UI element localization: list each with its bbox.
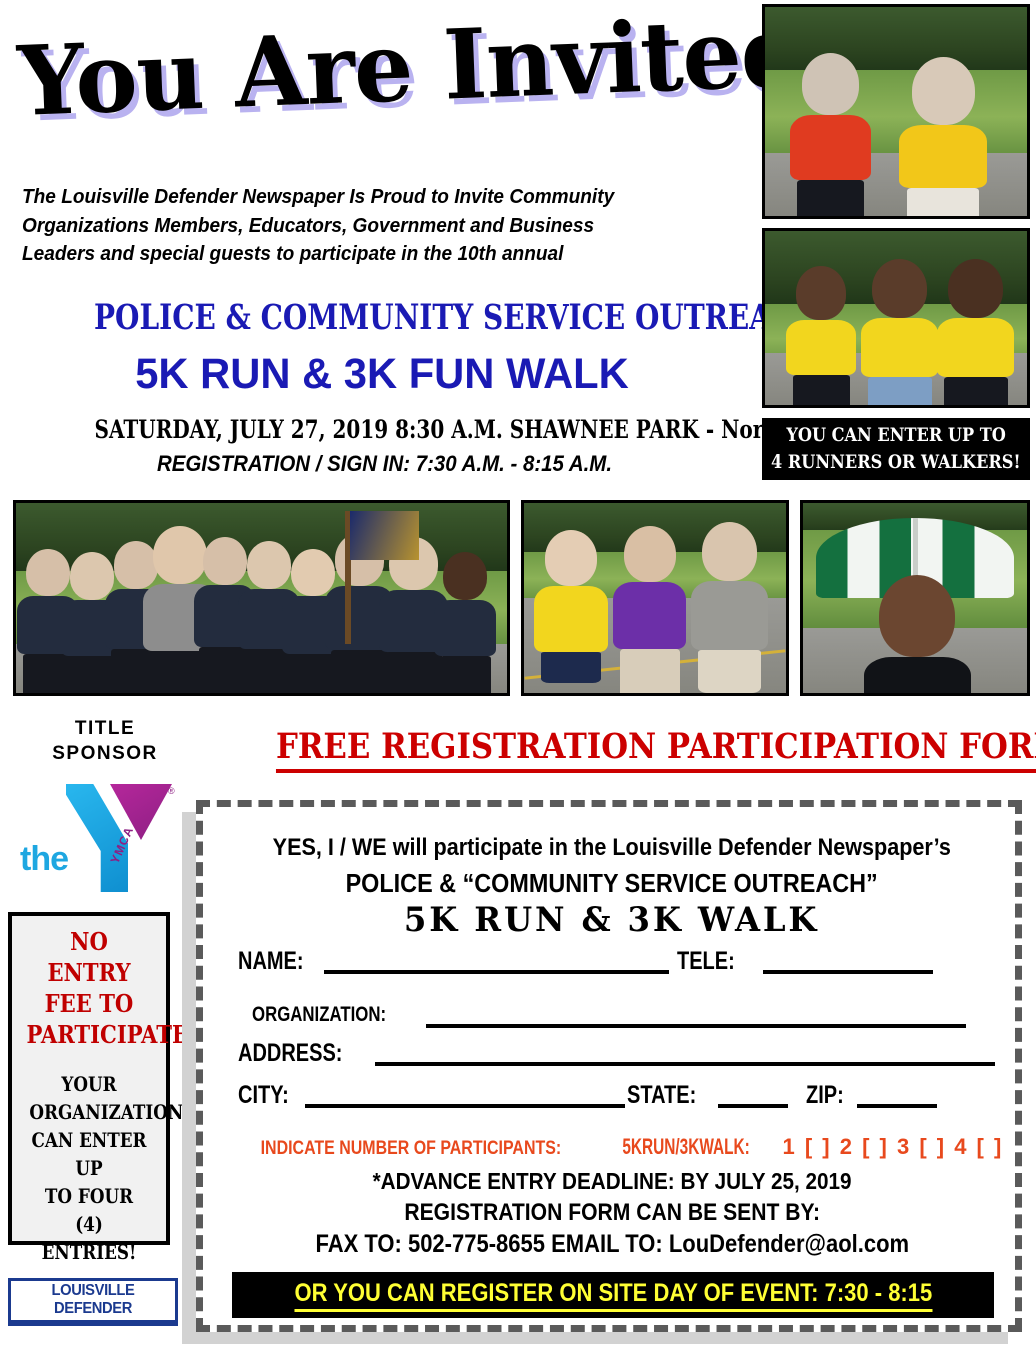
participants-line: INDICATE NUMBER OF PARTICIPANTS: 5KRUN/3… xyxy=(232,1134,992,1160)
no-fee-body-2: ORGANIZATION xyxy=(29,1098,148,1126)
participants-count-checkboxes[interactable]: 1 [ ] 2 [ ] 3 [ ] 4 [ ] xyxy=(783,1134,1004,1160)
publisher-name-text: LOUISVILLE DEFENDER xyxy=(18,1282,169,1318)
publisher-tagline-bar: WEEKLY NEWSPAPER xyxy=(11,1320,175,1340)
deadline-text: *ADVANCE ENTRY DEADLINE: BY JULY 25, 201… xyxy=(373,1168,852,1195)
deadline-line: *ADVANCE ENTRY DEADLINE: BY JULY 25, 201… xyxy=(232,1168,992,1195)
no-fee-body-1: YOUR xyxy=(29,1070,148,1098)
name-input[interactable] xyxy=(324,970,669,974)
organization-input[interactable] xyxy=(426,1024,966,1028)
page-title: You Are Invited! xyxy=(18,22,718,157)
address-field-label: ADDRESS: xyxy=(238,1040,342,1066)
woman-with-umbrella-photo xyxy=(800,500,1030,696)
intro-paragraph: The Louisville Defender Newspaper Is Pro… xyxy=(22,183,722,269)
event-subtitle-heading: 5K RUN & 3K FUN WALK xyxy=(22,348,742,400)
title-sponsor-line-2: SPONSOR xyxy=(30,741,180,766)
no-fee-heading-3: PARTICIPATE! xyxy=(27,1019,152,1050)
registered-trademark-icon: ® xyxy=(168,786,175,796)
form-police-text: POLICE & “COMMUNITY SERVICE OUTREACH” xyxy=(346,868,878,899)
no-fee-body-4: TO FOUR (4) xyxy=(29,1182,148,1238)
event-name-text: POLICE & COMMUNITY SERVICE OUTREACH xyxy=(94,298,670,338)
contact-line: FAX TO: 502-775-8655 EMAIL TO: LouDefend… xyxy=(232,1230,992,1259)
title-sponsor-line-1: TITLE xyxy=(30,716,180,741)
organization-field-row: ORGANIZATION: xyxy=(252,1002,966,1028)
onsite-registration-bar: OR YOU CAN REGISTER ON SITE DAY OF EVENT… xyxy=(232,1272,994,1318)
city-state-zip-field-row: CITY: STATE: ZIP: xyxy=(238,1082,937,1108)
tele-input[interactable] xyxy=(763,970,933,974)
sent-by-text: REGISTRATION FORM CAN BE SENT BY: xyxy=(404,1199,820,1227)
event-name-heading: POLICE & COMMUNITY SERVICE OUTREACH xyxy=(22,298,742,338)
form-run-walk-line: 5K RUN & 3K WALK xyxy=(232,900,992,940)
event-subtitle-text: 5K RUN & 3K FUN WALK xyxy=(33,348,731,400)
two-women-walking-photo xyxy=(762,4,1030,219)
onsite-registration-text: OR YOU CAN REGISTER ON SITE DAY OF EVENT… xyxy=(294,1279,932,1312)
intro-line-1: The Louisville Defender Newspaper Is Pro… xyxy=(22,183,673,212)
city-input[interactable] xyxy=(305,1104,625,1108)
enter-limit-callout: YOU CAN ENTER UP TO 4 RUNNERS OR WALKERS… xyxy=(762,418,1030,480)
address-input[interactable] xyxy=(375,1062,995,1066)
form-title-text: FREE REGISTRATION PARTICIPATION FORM xyxy=(276,726,1036,773)
no-entry-fee-box: NO ENTRY FEE TO PARTICIPATE! YOUR ORGANI… xyxy=(8,912,170,1245)
no-fee-body-5: ENTRIES! xyxy=(29,1238,148,1266)
ymca-logo: the ® YMCA xyxy=(18,778,193,896)
city-field-label: CITY: xyxy=(238,1082,289,1108)
three-walkers-photo xyxy=(521,500,789,696)
ymca-the-text: the xyxy=(20,840,68,879)
name-field-row: NAME: TELE: xyxy=(238,948,933,974)
form-title: FREE REGISTRATION PARTICIPATION FORM xyxy=(222,726,982,773)
zip-field-label: ZIP: xyxy=(806,1082,844,1108)
participants-event-label: 5KRUN/3KWALK: xyxy=(622,1134,749,1160)
form-yes-text: YES, I / WE will participate in the Loui… xyxy=(273,834,951,862)
event-registration-text: REGISTRATION / SIGN IN: 7:30 A.M. - 8:15… xyxy=(47,450,721,477)
publisher-tagline-text: WEEKLY NEWSPAPER xyxy=(20,1324,167,1338)
no-fee-body-3: CAN ENTER UP xyxy=(29,1126,148,1182)
page-title-text: You Are Invited! xyxy=(16,0,699,142)
intro-line-2: Organizations Members, Educators, Govern… xyxy=(22,212,673,241)
event-date-text: SATURDAY, JULY 27, 2019 8:30 A.M. SHAWNE… xyxy=(95,415,675,445)
three-walkers-yellow-shirts-photo xyxy=(762,228,1030,408)
publisher-name-bar: LOUISVILLE DEFENDER xyxy=(11,1281,175,1320)
no-fee-heading-1: NO ENTRY xyxy=(27,926,152,988)
zip-input[interactable] xyxy=(857,1104,937,1108)
louisville-defender-logo: LOUISVILLE DEFENDER WEEKLY NEWSPAPER xyxy=(8,1278,178,1326)
state-input[interactable] xyxy=(718,1104,788,1108)
title-sponsor-label: TITLE SPONSOR xyxy=(30,716,180,766)
no-fee-heading-2: FEE TO xyxy=(27,988,152,1019)
state-field-label: STATE: xyxy=(627,1082,696,1108)
event-registration-line: REGISTRATION / SIGN IN: 7:30 A.M. - 8:15… xyxy=(22,450,747,477)
tele-field-label: TELE: xyxy=(677,948,735,974)
participants-label: INDICATE NUMBER OF PARTICIPANTS: xyxy=(261,1138,562,1160)
address-field-row: ADDRESS: xyxy=(238,1040,995,1066)
sent-by-line: REGISTRATION FORM CAN BE SENT BY: xyxy=(232,1199,992,1227)
contact-text: FAX TO: 502-775-8655 EMAIL TO: LouDefend… xyxy=(315,1230,909,1259)
form-police-line: POLICE & “COMMUNITY SERVICE OUTREACH” xyxy=(232,868,992,899)
police-officers-running-photo xyxy=(13,500,510,696)
organization-field-label: ORGANIZATION: xyxy=(252,1002,386,1028)
name-field-label: NAME: xyxy=(238,948,304,974)
form-yes-line: YES, I / WE will participate in the Loui… xyxy=(232,834,992,862)
intro-line-3: Leaders and special guests to participat… xyxy=(22,240,673,269)
event-date-line: SATURDAY, JULY 27, 2019 8:30 A.M. SHAWNE… xyxy=(22,415,747,445)
form-run-walk-text: 5K RUN & 3K WALK xyxy=(404,900,819,940)
enter-limit-line-2: 4 RUNNERS OR WALKERS! xyxy=(771,449,1021,476)
enter-limit-line-1: YOU CAN ENTER UP TO xyxy=(786,422,1005,449)
